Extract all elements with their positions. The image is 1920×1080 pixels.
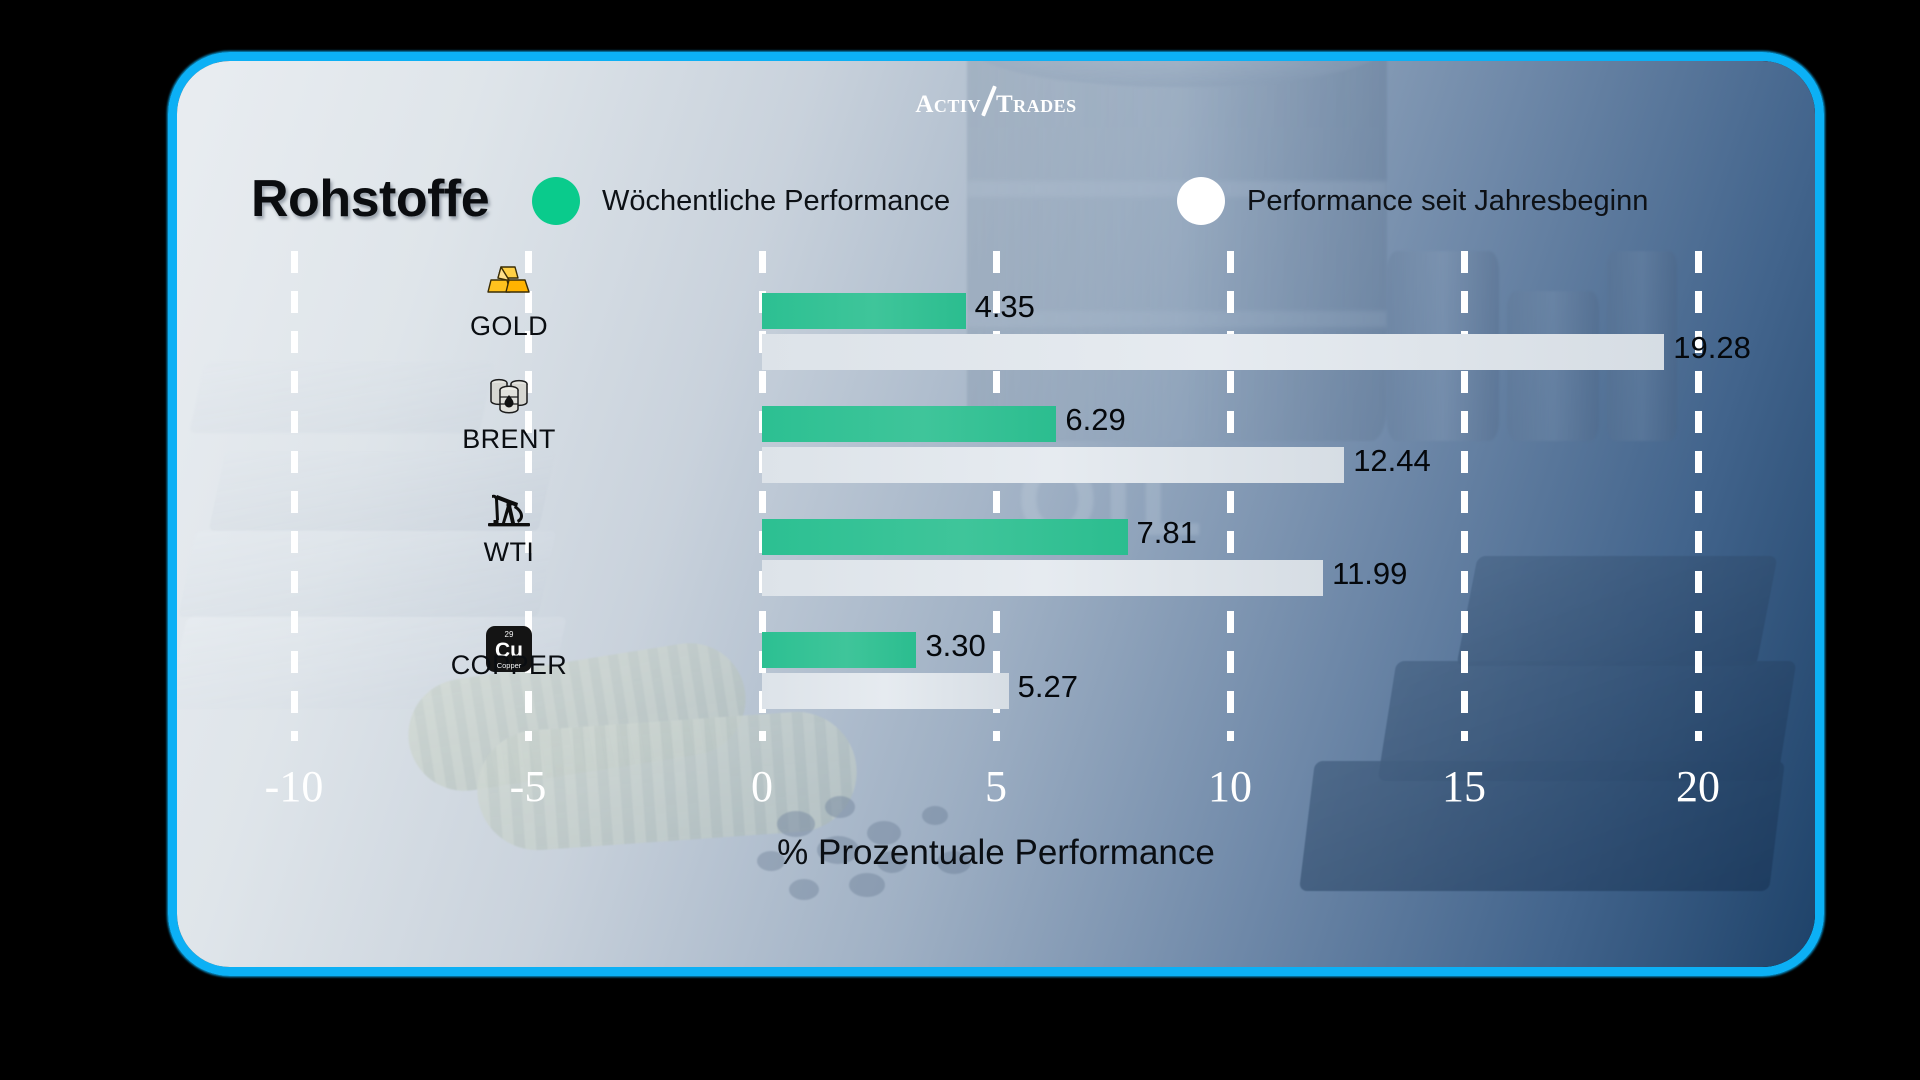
category-gold: GOLD (409, 261, 609, 342)
plot-area: GOLD4.3519.28BRENT6.2912.44WTI7.8111.992… (177, 251, 1815, 741)
logo-check-icon (981, 91, 996, 116)
bar-copper-ytd[interactable] (762, 673, 1009, 709)
chart-card-frame: OIL ACTIVTRADES (168, 52, 1824, 976)
legend-swatch-ytd (1177, 177, 1225, 225)
legend-label-weekly: Wöchentliche Performance (602, 185, 950, 218)
x-tick-label-10: 10 (1208, 761, 1252, 812)
logo-text-activ: A (915, 91, 934, 118)
bar-value-wti-ytd: 11.99 (1332, 556, 1407, 592)
category-wti: WTI (409, 487, 609, 568)
gridline-20 (1695, 251, 1702, 741)
bar-value-gold-ytd: 19.28 (1673, 330, 1751, 366)
x-tick-label-5: 5 (985, 761, 1007, 812)
page-title: Rohstoffe (251, 169, 489, 229)
bar-value-wti-weekly: 7.81 (1137, 515, 1197, 551)
bar-value-gold-weekly: 4.35 (975, 289, 1035, 325)
x-axis-label: % Prozentuale Performance (177, 833, 1815, 873)
category-label-wti: WTI (409, 537, 609, 568)
copper-name: Copper (497, 662, 522, 670)
activtrades-logo: ACTIVTRADES (177, 91, 1815, 119)
gridline-10 (1227, 251, 1234, 741)
gold-bars-icon (409, 261, 609, 309)
bar-value-copper-weekly: 3.30 (925, 628, 985, 664)
gridline-15 (1461, 251, 1468, 741)
oil-barrels-icon (409, 374, 609, 422)
x-tick-label-20: 20 (1676, 761, 1720, 812)
category-brent: BRENT (409, 374, 609, 455)
screenshot-root: OIL ACTIVTRADES (0, 0, 1920, 1080)
category-copper: 29CuCopperCOPPER (409, 600, 609, 681)
bar-wti-weekly[interactable] (762, 519, 1128, 555)
bar-wti-ytd[interactable] (762, 560, 1323, 596)
x-tick-label--5: -5 (510, 761, 547, 812)
chart-header: Rohstoffe Wöchentliche Performance Perfo… (177, 169, 1815, 239)
logo-text-trades: T (996, 91, 1013, 118)
gridline--10 (291, 251, 298, 741)
pebble-shape (849, 873, 885, 897)
bar-brent-ytd[interactable] (762, 447, 1344, 483)
x-tick-label--10: -10 (265, 761, 324, 812)
bar-value-copper-ytd: 5.27 (1018, 669, 1078, 705)
pebble-shape (789, 879, 819, 900)
legend-label-ytd: Performance seit Jahresbeginn (1247, 185, 1648, 218)
x-axis-ticks: -10-505101520 (177, 761, 1815, 821)
oil-pumpjack-icon (409, 487, 609, 535)
bar-value-brent-weekly: 6.29 (1065, 402, 1125, 438)
category-label-gold: GOLD (409, 311, 609, 342)
bar-copper-weekly[interactable] (762, 632, 916, 668)
legend-item-ytd[interactable]: Performance seit Jahresbeginn (1177, 177, 1648, 225)
legend-item-weekly[interactable]: Wöchentliche Performance (532, 177, 950, 225)
bar-value-brent-ytd: 12.44 (1353, 443, 1431, 479)
logo-text-trades-small: RADES (1013, 96, 1077, 116)
x-tick-label-0: 0 (751, 761, 773, 812)
bar-brent-weekly[interactable] (762, 406, 1056, 442)
copper-atomic-number: 29 (505, 631, 514, 639)
x-tick-label-15: 15 (1442, 761, 1486, 812)
bar-gold-ytd[interactable] (762, 334, 1664, 370)
category-label-brent: BRENT (409, 424, 609, 455)
legend-swatch-weekly (532, 177, 580, 225)
logo-text-activ-small: CTIV (934, 96, 981, 116)
copper-element-tile-icon: 29CuCopper (409, 600, 609, 648)
bar-gold-weekly[interactable] (762, 293, 966, 329)
